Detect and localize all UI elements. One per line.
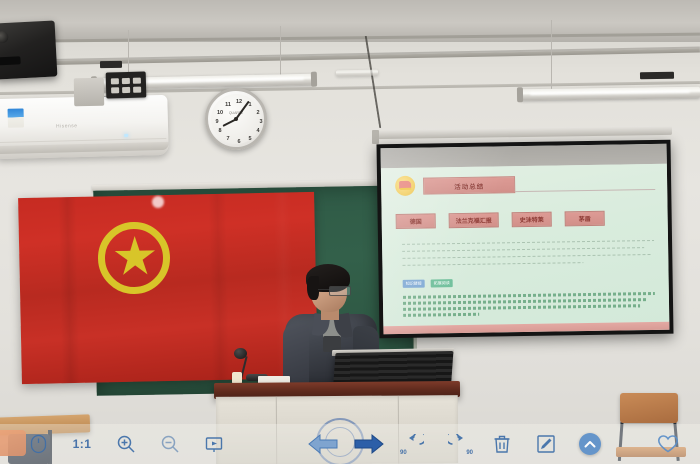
slide-chip-label: 茅盾 bbox=[579, 214, 591, 223]
slide-tag: 知识链接 bbox=[403, 280, 425, 288]
zoom-out-button[interactable] bbox=[148, 424, 192, 464]
chair-backrest bbox=[620, 393, 678, 423]
slide-tag-label: 拓展阅读 bbox=[434, 280, 450, 286]
control-panel bbox=[106, 71, 147, 98]
slide-paragraph bbox=[403, 292, 655, 320]
slide-tag: 拓展阅读 bbox=[431, 279, 453, 287]
previous-button[interactable] bbox=[300, 424, 346, 464]
actual-size-button[interactable]: 1:1 bbox=[60, 424, 104, 464]
slide-tag-row: 知识链接 拓展阅读 bbox=[403, 279, 453, 288]
projector-lens bbox=[0, 31, 9, 44]
screen-mount bbox=[372, 130, 379, 144]
rotate-left-angle: 90 bbox=[400, 450, 407, 456]
clock-numeral: 9 bbox=[213, 118, 221, 126]
viewer-toolbar: 1:1 bbox=[0, 424, 700, 464]
ceiling-projector bbox=[0, 20, 57, 79]
delete-button[interactable] bbox=[480, 424, 524, 464]
clock-numeral: 11 bbox=[224, 101, 232, 109]
light-wire bbox=[128, 30, 129, 78]
clock-pivot bbox=[234, 117, 238, 121]
cursor-mode-icon[interactable] bbox=[16, 424, 60, 464]
flag-clip bbox=[152, 196, 164, 208]
chevron-up-icon bbox=[579, 433, 601, 455]
slide-chip-row: 德国 法兰克福汇报 史沫特莱 茅盾 bbox=[396, 210, 662, 229]
slide-chip: 茅盾 bbox=[565, 211, 605, 227]
clock-numeral: 7 bbox=[224, 135, 232, 143]
favorite-button[interactable] bbox=[646, 424, 690, 464]
clock-numeral: 5 bbox=[246, 135, 254, 143]
clock-numeral: 10 bbox=[216, 109, 224, 117]
projection-screen: 活动总结 德国 法兰克福汇报 史沫特莱 茅盾 知识链接 拓展阅读 bbox=[376, 140, 673, 339]
slide-chip: 史沫特莱 bbox=[512, 212, 552, 228]
slide-title-rule bbox=[515, 189, 655, 192]
slideshow-button[interactable] bbox=[192, 424, 236, 464]
next-button[interactable] bbox=[346, 424, 392, 464]
slide-title-banner: 活动总结 bbox=[423, 176, 515, 194]
slide-tag-label: 知识链接 bbox=[406, 281, 422, 287]
light-wire bbox=[551, 20, 552, 90]
wall-box bbox=[640, 72, 674, 80]
ac-indicator-led bbox=[124, 134, 128, 137]
screen-surface: 活动总结 德国 法兰克福汇报 史沫特莱 茅盾 知识链接 拓展阅读 bbox=[381, 144, 670, 334]
presenter-glasses bbox=[329, 286, 351, 296]
slide-body: 活动总结 德国 法兰克福汇报 史沫特莱 茅盾 知识链接 拓展阅读 bbox=[381, 164, 669, 326]
clock-numeral: 12 bbox=[235, 98, 243, 106]
rotate-right-button[interactable]: 90 bbox=[436, 424, 480, 464]
clock-numeral: 3 bbox=[257, 118, 265, 126]
slide-chip: 德国 bbox=[396, 213, 436, 229]
clock-numeral: 8 bbox=[216, 127, 224, 135]
clock-numeral: 4 bbox=[254, 127, 262, 135]
ceiling-light bbox=[336, 70, 378, 77]
communist-youth-league-flag bbox=[18, 192, 318, 384]
clock-numeral: 6 bbox=[235, 138, 243, 146]
expand-button[interactable] bbox=[568, 424, 612, 464]
photo-viewer-stage: Hisense 12 1 2 3 4 5 6 7 8 9 10 11 QUART… bbox=[0, 0, 700, 464]
edit-button[interactable] bbox=[524, 424, 568, 464]
ac-brand-label: Hisense bbox=[56, 123, 78, 130]
toolbar-right-group: 90 90 bbox=[300, 424, 700, 464]
wall-mount-bracket bbox=[74, 78, 104, 107]
clock-numeral: 2 bbox=[254, 109, 262, 117]
actual-size-label: 1:1 bbox=[73, 437, 92, 451]
slide-title: 活动总结 bbox=[454, 180, 484, 190]
zoom-in-button[interactable] bbox=[104, 424, 148, 464]
toolbar-left-group: 1:1 bbox=[16, 424, 236, 464]
rotate-left-button[interactable]: 90 bbox=[392, 424, 436, 464]
slide-chip-label: 德国 bbox=[410, 217, 422, 226]
energy-label-sticker bbox=[8, 108, 24, 127]
ac-vent bbox=[0, 142, 169, 154]
presenter-hair-side bbox=[307, 276, 319, 300]
clock-face: 12 1 2 3 4 5 6 7 8 9 10 11 QUARTZ bbox=[211, 94, 261, 144]
wall-speaker bbox=[100, 61, 122, 68]
slide-text-lines bbox=[402, 240, 654, 272]
slide-chip-label: 法兰克福汇报 bbox=[456, 216, 492, 226]
slide-chip: 法兰克福汇报 bbox=[449, 212, 499, 228]
rotate-right-angle: 90 bbox=[466, 450, 473, 456]
slide-chip-label: 史沫特莱 bbox=[520, 215, 544, 224]
youth-league-emblem-icon bbox=[395, 176, 415, 196]
wall-clock: 12 1 2 3 4 5 6 7 8 9 10 11 QUARTZ bbox=[205, 88, 267, 150]
